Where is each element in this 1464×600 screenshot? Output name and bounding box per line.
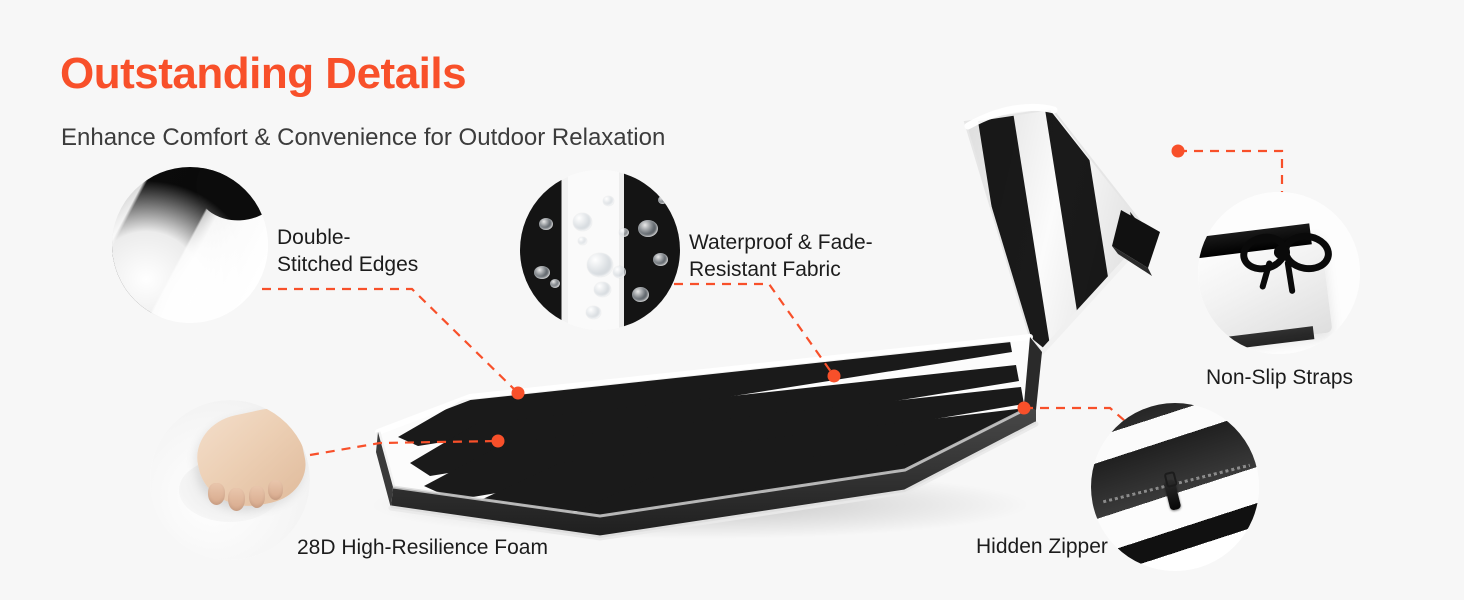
callout-label-high-resilience-foam: 28D High-Resilience Foam <box>297 535 548 562</box>
connector-dot-high-resilience-foam <box>492 435 505 448</box>
detail-circle-high-resilience-foam <box>150 400 310 560</box>
waterproof-fabric-photo <box>520 170 680 330</box>
photo-gloss <box>112 167 268 323</box>
connector-waterproof-fabric <box>674 284 834 376</box>
connector-double-stitched-edges <box>262 289 518 393</box>
water-droplet <box>658 196 667 204</box>
detail-circle-waterproof-fabric <box>520 170 680 330</box>
water-droplet <box>653 253 668 266</box>
water-droplet <box>594 282 611 297</box>
water-droplet <box>619 228 629 237</box>
water-droplet <box>578 237 587 245</box>
water-droplet <box>632 287 649 302</box>
callout-label-waterproof-fabric: Waterproof & Fade- Resistant Fabric <box>689 230 873 284</box>
connector-dot-waterproof-fabric <box>828 370 841 383</box>
connector-dot-hidden-zipper <box>1018 402 1031 415</box>
detail-circle-hidden-zipper <box>1091 403 1259 571</box>
water-droplet <box>613 266 626 278</box>
connector-dot-double-stitched-edges <box>512 387 525 400</box>
callout-label-hidden-zipper: Hidden Zipper <box>976 534 1108 561</box>
knuckle <box>208 483 225 505</box>
callout-label-non-slip-straps: Non-Slip Straps <box>1206 365 1353 392</box>
detail-circle-double-stitched-edges <box>112 167 268 323</box>
product-detail-infographic: Outstanding Details Enhance Comfort & Co… <box>0 0 1464 600</box>
callout-label-double-stitched-edges: Double- Stitched Edges <box>277 225 418 279</box>
water-droplet <box>638 220 658 237</box>
detail-circle-non-slip-straps <box>1198 192 1360 354</box>
connector-dot-non-slip-straps <box>1172 145 1185 158</box>
water-droplet <box>573 213 592 231</box>
connector-high-resilience-foam <box>310 441 498 455</box>
water-droplet <box>603 196 614 206</box>
connector-non-slip-straps <box>1178 151 1282 196</box>
water-droplet <box>586 306 601 319</box>
